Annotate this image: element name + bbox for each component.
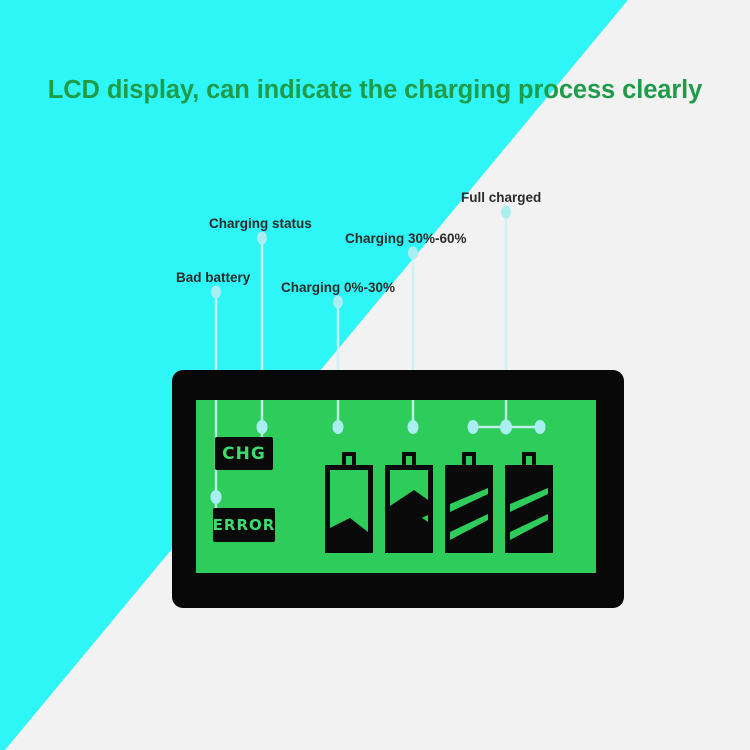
battery-fill-2	[390, 470, 428, 548]
battery-icon-2	[385, 452, 433, 553]
callout-label-charging-30-60: Charging 30%-60%	[345, 231, 467, 246]
status-badge-error: ERROR	[213, 508, 275, 542]
infographic-canvas: LCD display, can indicate the charging p…	[0, 0, 750, 750]
battery-icon-4	[505, 452, 553, 553]
status-badge-chg: CHG	[215, 437, 273, 470]
battery-fill-stripes-1	[330, 470, 368, 548]
battery-fill-4	[510, 470, 548, 548]
battery-fill-stripes-2	[390, 470, 428, 548]
battery-fill-1	[330, 470, 368, 548]
battery-fill-stripes-3	[450, 470, 488, 548]
callout-label-full-charged: Full charged	[461, 190, 541, 205]
page-title: LCD display, can indicate the charging p…	[0, 76, 750, 105]
callout-label-charging-status: Charging status	[209, 216, 312, 231]
battery-icon-3	[445, 452, 493, 553]
battery-fill-stripes-4	[510, 470, 548, 548]
callout-label-bad-battery: Bad battery	[176, 270, 250, 285]
battery-icon-1	[325, 452, 373, 553]
callout-label-charging-0-30: Charging 0%-30%	[281, 280, 395, 295]
battery-fill-3	[450, 470, 488, 548]
